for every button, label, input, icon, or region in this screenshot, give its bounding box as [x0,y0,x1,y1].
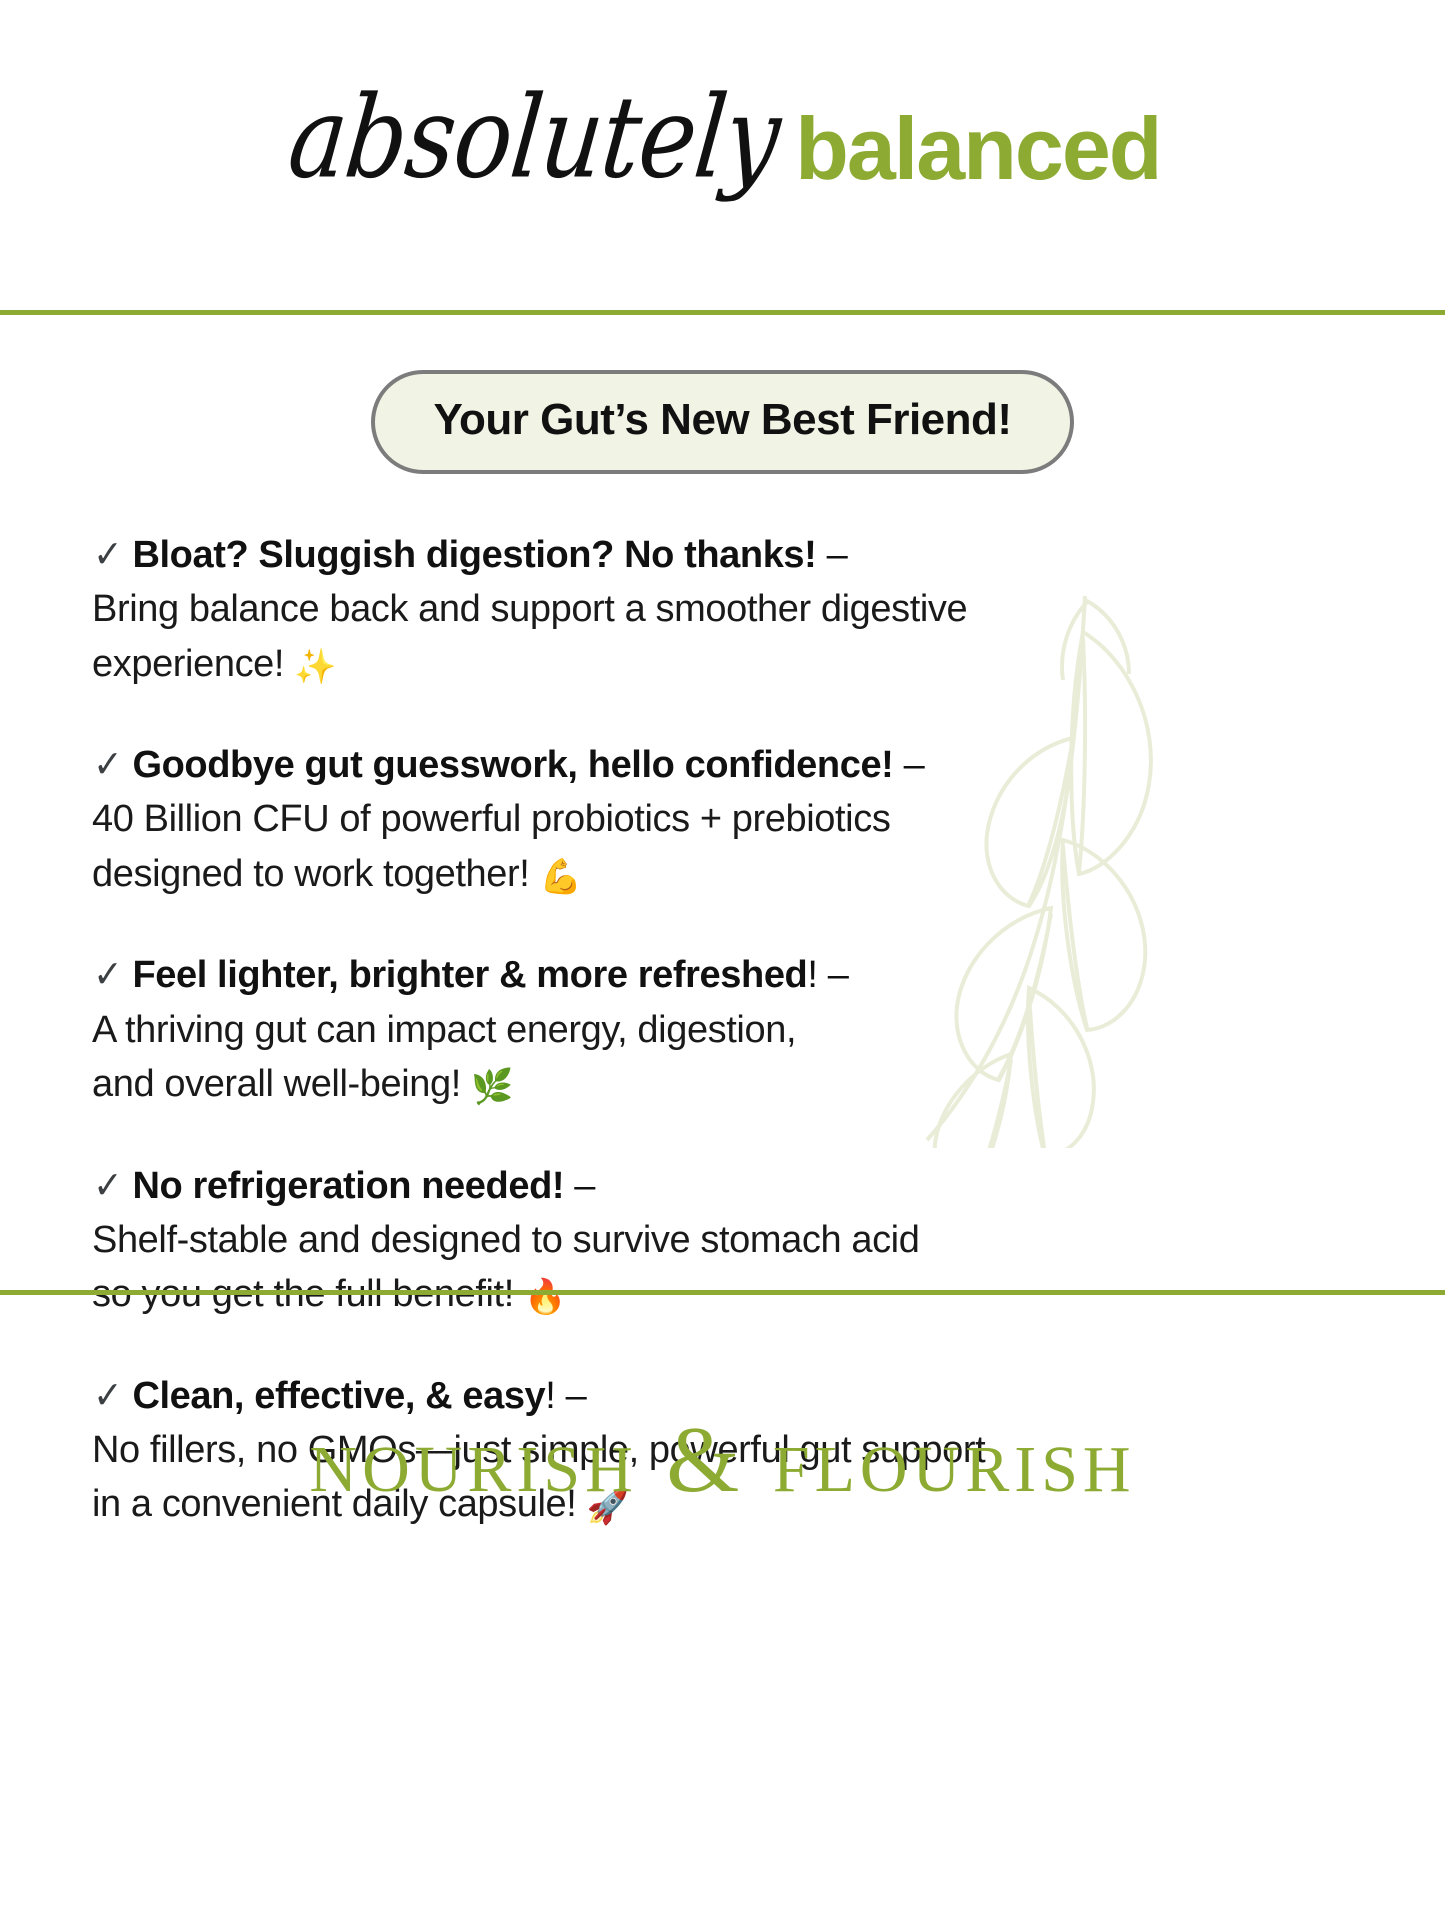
flexed-biceps-emoji: 💪 [540,857,582,897]
brand-lockup: absolutely balanced [284,98,1160,194]
check-icon: ✓ [93,1161,122,1212]
sparkles-emoji: ✨ [294,647,336,687]
benefit-headline: ✓Feel lighter, brighter & more refreshed… [92,950,1385,1001]
benefit-body-line-2: designed to work together! [92,853,529,895]
benefit-headline-dash: ! – [807,954,848,996]
badge-container: Your Gut’s New Best Friend! [0,370,1445,474]
benefit-headline-bold: Bloat? Sluggish digestion? No thanks! [132,534,816,576]
poster-page: absolutely balanced Your Gut’s New Best … [0,0,1445,1927]
benefit-headline-bold: Goodbye gut guesswork, hello confidence! [132,744,893,786]
benefit-body-line-2-row: designed to work together! 💪 [92,848,1385,900]
top-divider-rule [0,310,1445,315]
benefit-item-1: ✓Bloat? Sluggish digestion? No thanks! –… [92,530,1385,690]
benefit-item-3: ✓Feel lighter, brighter & more refreshed… [92,950,1385,1110]
benefit-headline-dash: – [564,1165,595,1207]
check-icon: ✓ [93,950,122,1001]
header-bold-word: balanced [795,105,1160,193]
benefit-body-line-2: and overall well-being! [92,1063,461,1105]
benefit-headline: ✓Bloat? Sluggish digestion? No thanks! – [92,530,1385,581]
benefit-headline-bold: Feel lighter, brighter & more refreshed [132,954,807,996]
benefit-item-2: ✓Goodbye gut guesswork, hello confidence… [92,740,1385,900]
benefit-body-line-2-row: experience! ✨ [92,638,1385,690]
check-icon: ✓ [93,740,122,791]
benefit-headline-bold: No refrigeration needed! [132,1165,564,1207]
benefit-body-line-2: experience! [92,643,284,685]
herb-emoji: 🌿 [471,1067,513,1107]
benefit-headline-dash: – [816,534,847,576]
benefit-body-line-1: Bring balance back and support a smoothe… [92,583,1385,635]
header-script-word: absolutely [284,81,785,194]
tagline-badge: Your Gut’s New Best Friend! [371,370,1073,474]
benefit-headline: ✓No refrigeration needed! – [92,1161,1385,1212]
benefit-body-line-1: Shelf-stable and designed to survive sto… [92,1214,1385,1266]
footer-brand-name: Nourish & Flourish [309,1413,1135,1507]
benefit-body-line-1: A thriving gut can impact energy, digest… [92,1004,1385,1056]
benefit-headline-dash: – [893,744,924,786]
benefit-body-line-2-row: and overall well-being! 🌿 [92,1058,1385,1110]
benefit-headline: ✓Goodbye gut guesswork, hello confidence… [92,740,1385,791]
benefit-body-line-1: 40 Billion CFU of powerful probiotics + … [92,793,1385,845]
poster-header: absolutely balanced [0,0,1445,310]
footer-brand-container: Nourish & Flourish [0,1295,1445,1927]
check-icon: ✓ [93,530,122,581]
poster-footer: Nourish & Flourish [0,1290,1445,1927]
